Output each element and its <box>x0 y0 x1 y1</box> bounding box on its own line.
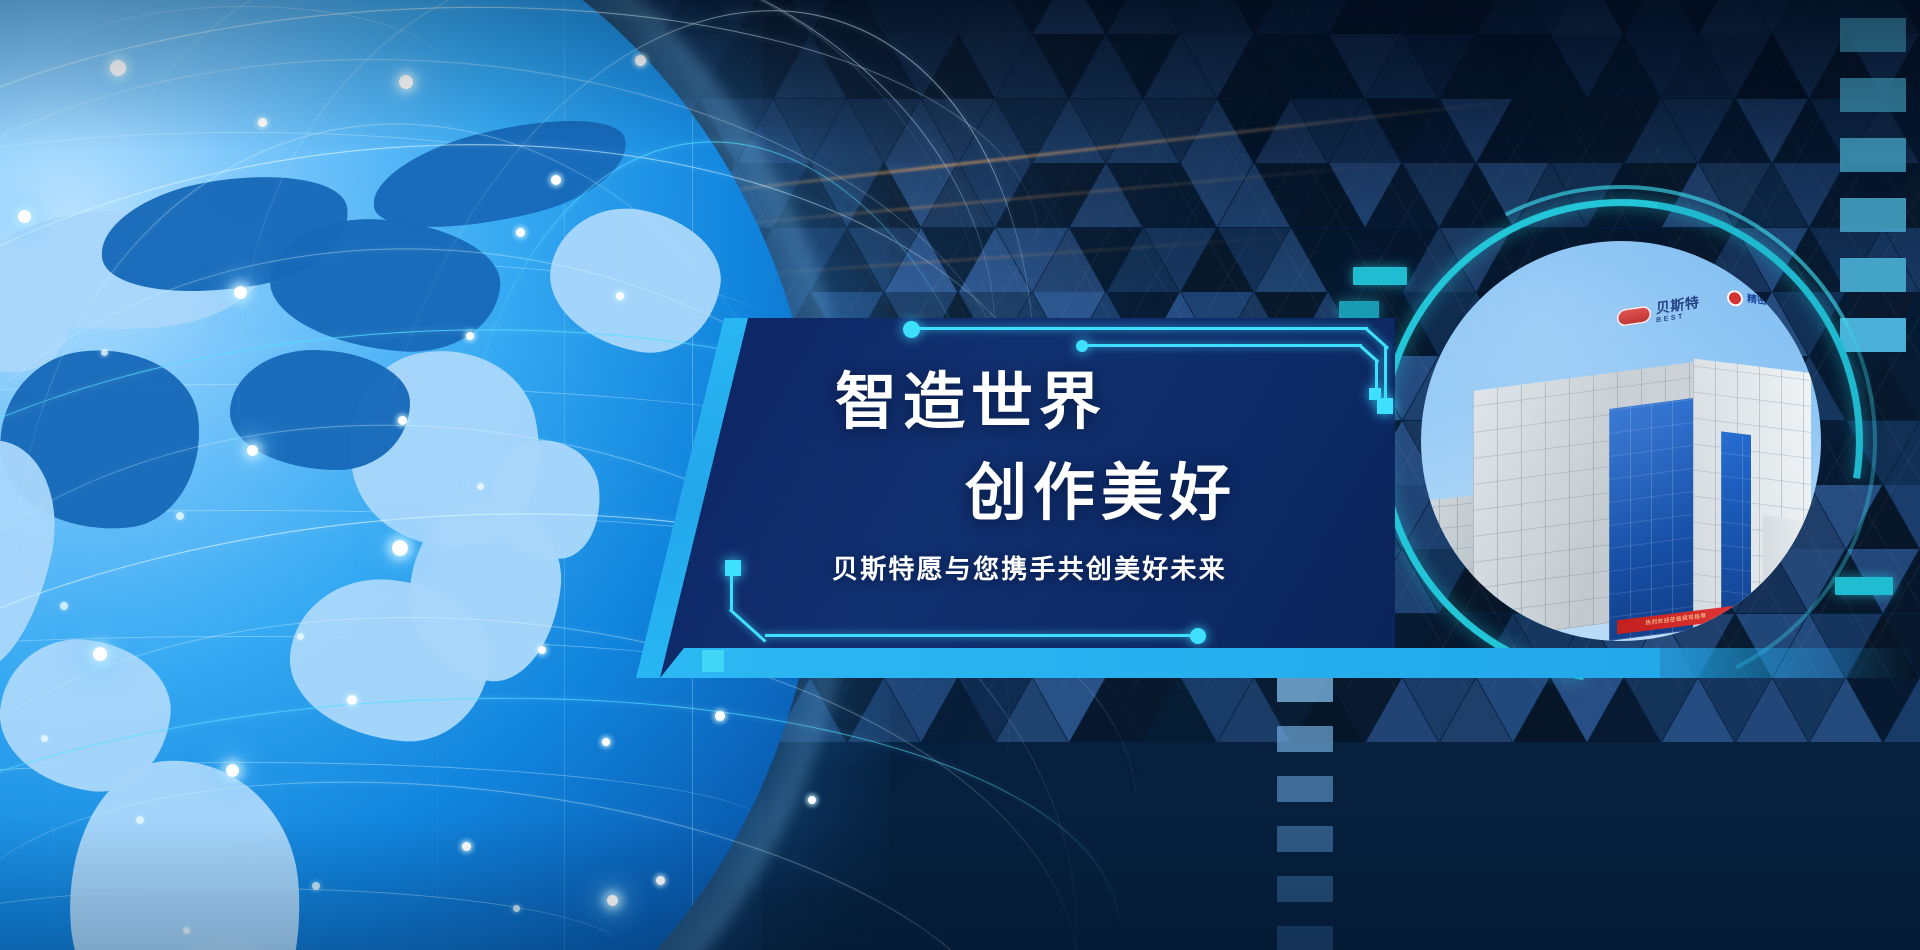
ring-tab-left-2 <box>1339 301 1379 319</box>
lower-dash-4 <box>1277 826 1333 852</box>
lower-dash-1 <box>1277 676 1333 702</box>
trace-endpoint-top-1 <box>1377 398 1393 414</box>
edge-dash-1 <box>1840 18 1906 52</box>
trace-vert-top-1 <box>1384 347 1387 403</box>
edge-dash-stack <box>1840 18 1906 378</box>
trace-line-bottom-1 <box>765 634 1202 637</box>
lower-dash-column <box>1277 676 1333 950</box>
circular-photo-frame: 贝斯特 BEST 精密机械 热烈欢迎莅临我司指导 <box>1395 215 1847 667</box>
lower-dash-3 <box>1277 776 1333 802</box>
lower-dash-6 <box>1277 926 1333 950</box>
trace-endpoint-bottom-1 <box>1190 628 1206 644</box>
trace-vert-bottom-1 <box>730 572 733 610</box>
ring-tab-right <box>1835 577 1893 595</box>
building-sign-primary: 贝斯特 BEST <box>1617 295 1700 330</box>
trace-line-top-1 <box>915 327 1368 330</box>
secondary-brand-mark-icon <box>1727 289 1743 307</box>
building-glass-curtain <box>1609 398 1693 641</box>
lower-dash-5 <box>1277 876 1333 902</box>
building-far-block <box>1763 515 1821 641</box>
trace-endpoint-top-2 <box>1369 388 1381 400</box>
trace-node-bottom-left <box>725 560 741 576</box>
edge-dash-4 <box>1840 198 1906 232</box>
edge-dash-5 <box>1840 258 1906 292</box>
ring-tab-left <box>1353 267 1407 285</box>
headline-line-2: 创作美好 <box>965 463 1237 525</box>
headline-subtitle: 贝斯特愿与您携手共创美好未来 <box>832 556 1227 582</box>
sign-secondary-cn: 精密机械 <box>1747 295 1787 310</box>
panel-base-stripe <box>660 648 1660 678</box>
brand-mark-icon <box>1617 305 1651 327</box>
headline-line-1: 智造世界 <box>835 372 1107 434</box>
banner-stage: 贝斯特 BEST 精密机械 热烈欢迎莅临我司指导 智造世界 创作美好 <box>0 0 1920 950</box>
trace-line-top-2 <box>1084 344 1362 347</box>
accent-chip <box>702 650 724 672</box>
lower-dash-2 <box>1277 726 1333 752</box>
building-photo: 贝斯特 BEST 精密机械 热烈欢迎莅临我司指导 <box>1421 241 1821 641</box>
edge-dash-3 <box>1840 138 1906 172</box>
edge-dash-2 <box>1840 78 1906 112</box>
